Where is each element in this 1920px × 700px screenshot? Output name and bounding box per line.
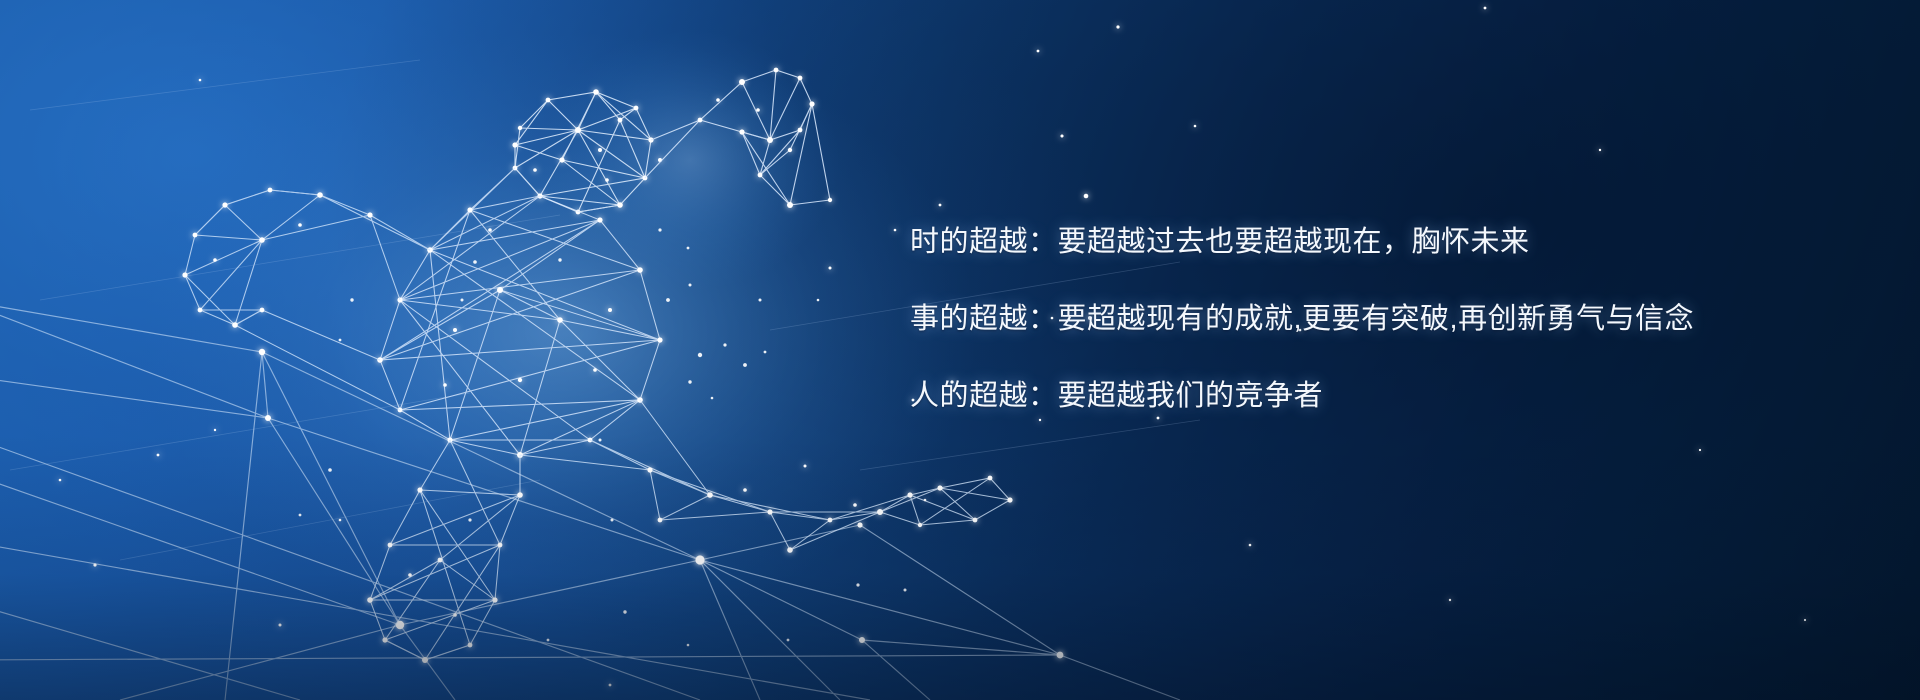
slogan-line-people: 人的超越：要超越我们的竞争者 xyxy=(910,382,1810,411)
slogan-line-matter: 事的超越：要超越现有的成就,更要有突破,再创新勇气与信念 xyxy=(910,305,1810,334)
slogan-line-time: 时的超越：要超越过去也要超越现在，胸怀未来 xyxy=(910,228,1810,257)
slogan-text-block: 时的超越：要超越过去也要超越现在，胸怀未来 事的超越：要超越现有的成就,更要有突… xyxy=(910,228,1810,411)
banner-stage: 时的超越：要超越过去也要超越现在，胸怀未来 事的超越：要超越现有的成就,更要有突… xyxy=(0,0,1920,700)
